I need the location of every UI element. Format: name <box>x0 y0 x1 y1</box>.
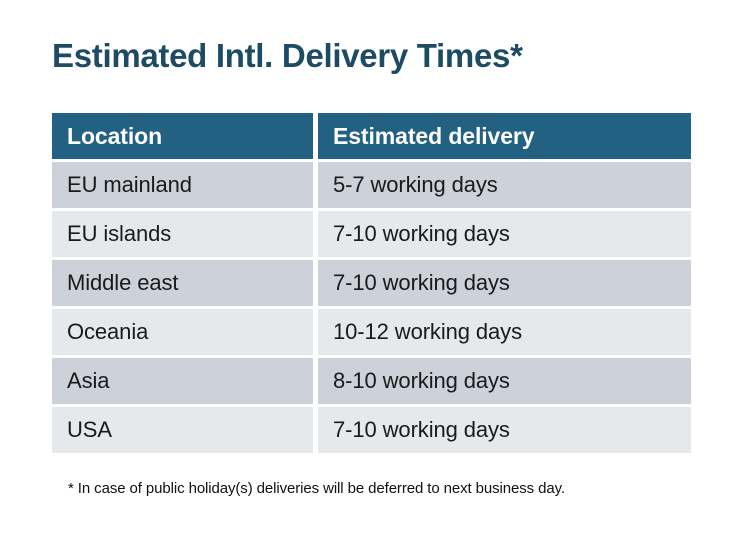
cell-location: EU islands <box>52 211 313 257</box>
cell-estimated-delivery: 5-7 working days <box>318 162 691 208</box>
cell-estimated-delivery: 7-10 working days <box>318 211 691 257</box>
cell-location: EU mainland <box>52 162 313 208</box>
cell-location: Asia <box>52 358 313 404</box>
cell-estimated-delivery: 10-12 working days <box>318 309 691 355</box>
table-row: Oceania 10-12 working days <box>52 309 691 355</box>
cell-estimated-delivery: 7-10 working days <box>318 407 691 453</box>
footnote-text: * In case of public holiday(s) deliverie… <box>68 480 565 497</box>
table-header-row: Location Estimated delivery <box>52 113 691 159</box>
cell-estimated-delivery: 8-10 working days <box>318 358 691 404</box>
estimated-delivery-table: Location Estimated delivery EU mainland … <box>52 113 691 456</box>
cell-location: Oceania <box>52 309 313 355</box>
delivery-times-page: Estimated Intl. Delivery Times* Location… <box>0 0 745 536</box>
table-row: Asia 8-10 working days <box>52 358 691 404</box>
table-row: EU mainland 5-7 working days <box>52 162 691 208</box>
page-title: Estimated Intl. Delivery Times* <box>52 36 523 76</box>
cell-location: USA <box>52 407 313 453</box>
table-row: EU islands 7-10 working days <box>52 211 691 257</box>
cell-location: Middle east <box>52 260 313 306</box>
column-header-estimated-delivery: Estimated delivery <box>318 113 691 159</box>
table-row: Middle east 7-10 working days <box>52 260 691 306</box>
cell-estimated-delivery: 7-10 working days <box>318 260 691 306</box>
column-header-location: Location <box>52 113 313 159</box>
table-row: USA 7-10 working days <box>52 407 691 453</box>
